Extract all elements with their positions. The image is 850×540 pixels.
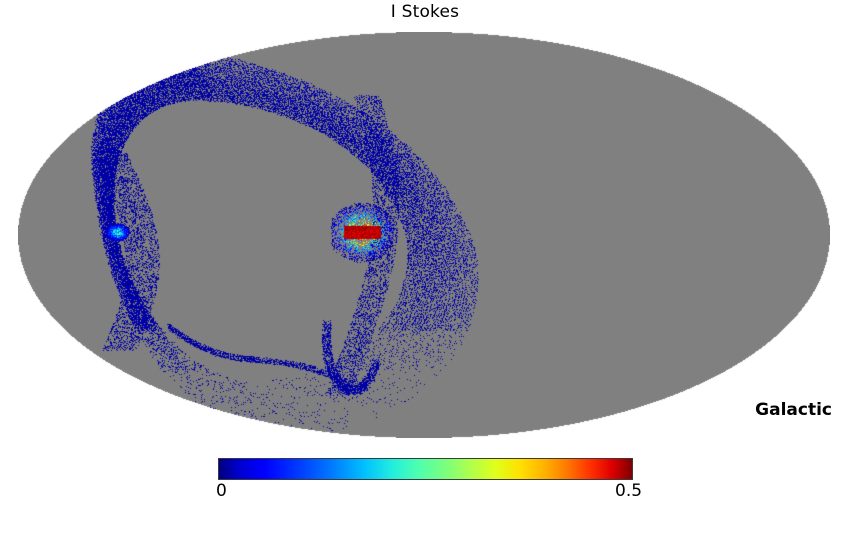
healpy-mollview-figure: I Stokes Galactic 0 0.5 xyxy=(0,0,850,540)
coordinate-system-label: Galactic xyxy=(755,400,832,420)
colorbar-gradient xyxy=(218,458,633,480)
colorbar-min-label: 0 xyxy=(216,481,227,501)
colorbar-max-label: 0.5 xyxy=(615,481,642,501)
colorbar[interactable] xyxy=(218,458,633,480)
sky-map-projection xyxy=(18,32,830,438)
sky-map-canvas xyxy=(18,32,830,438)
page-title: I Stokes xyxy=(0,2,850,22)
